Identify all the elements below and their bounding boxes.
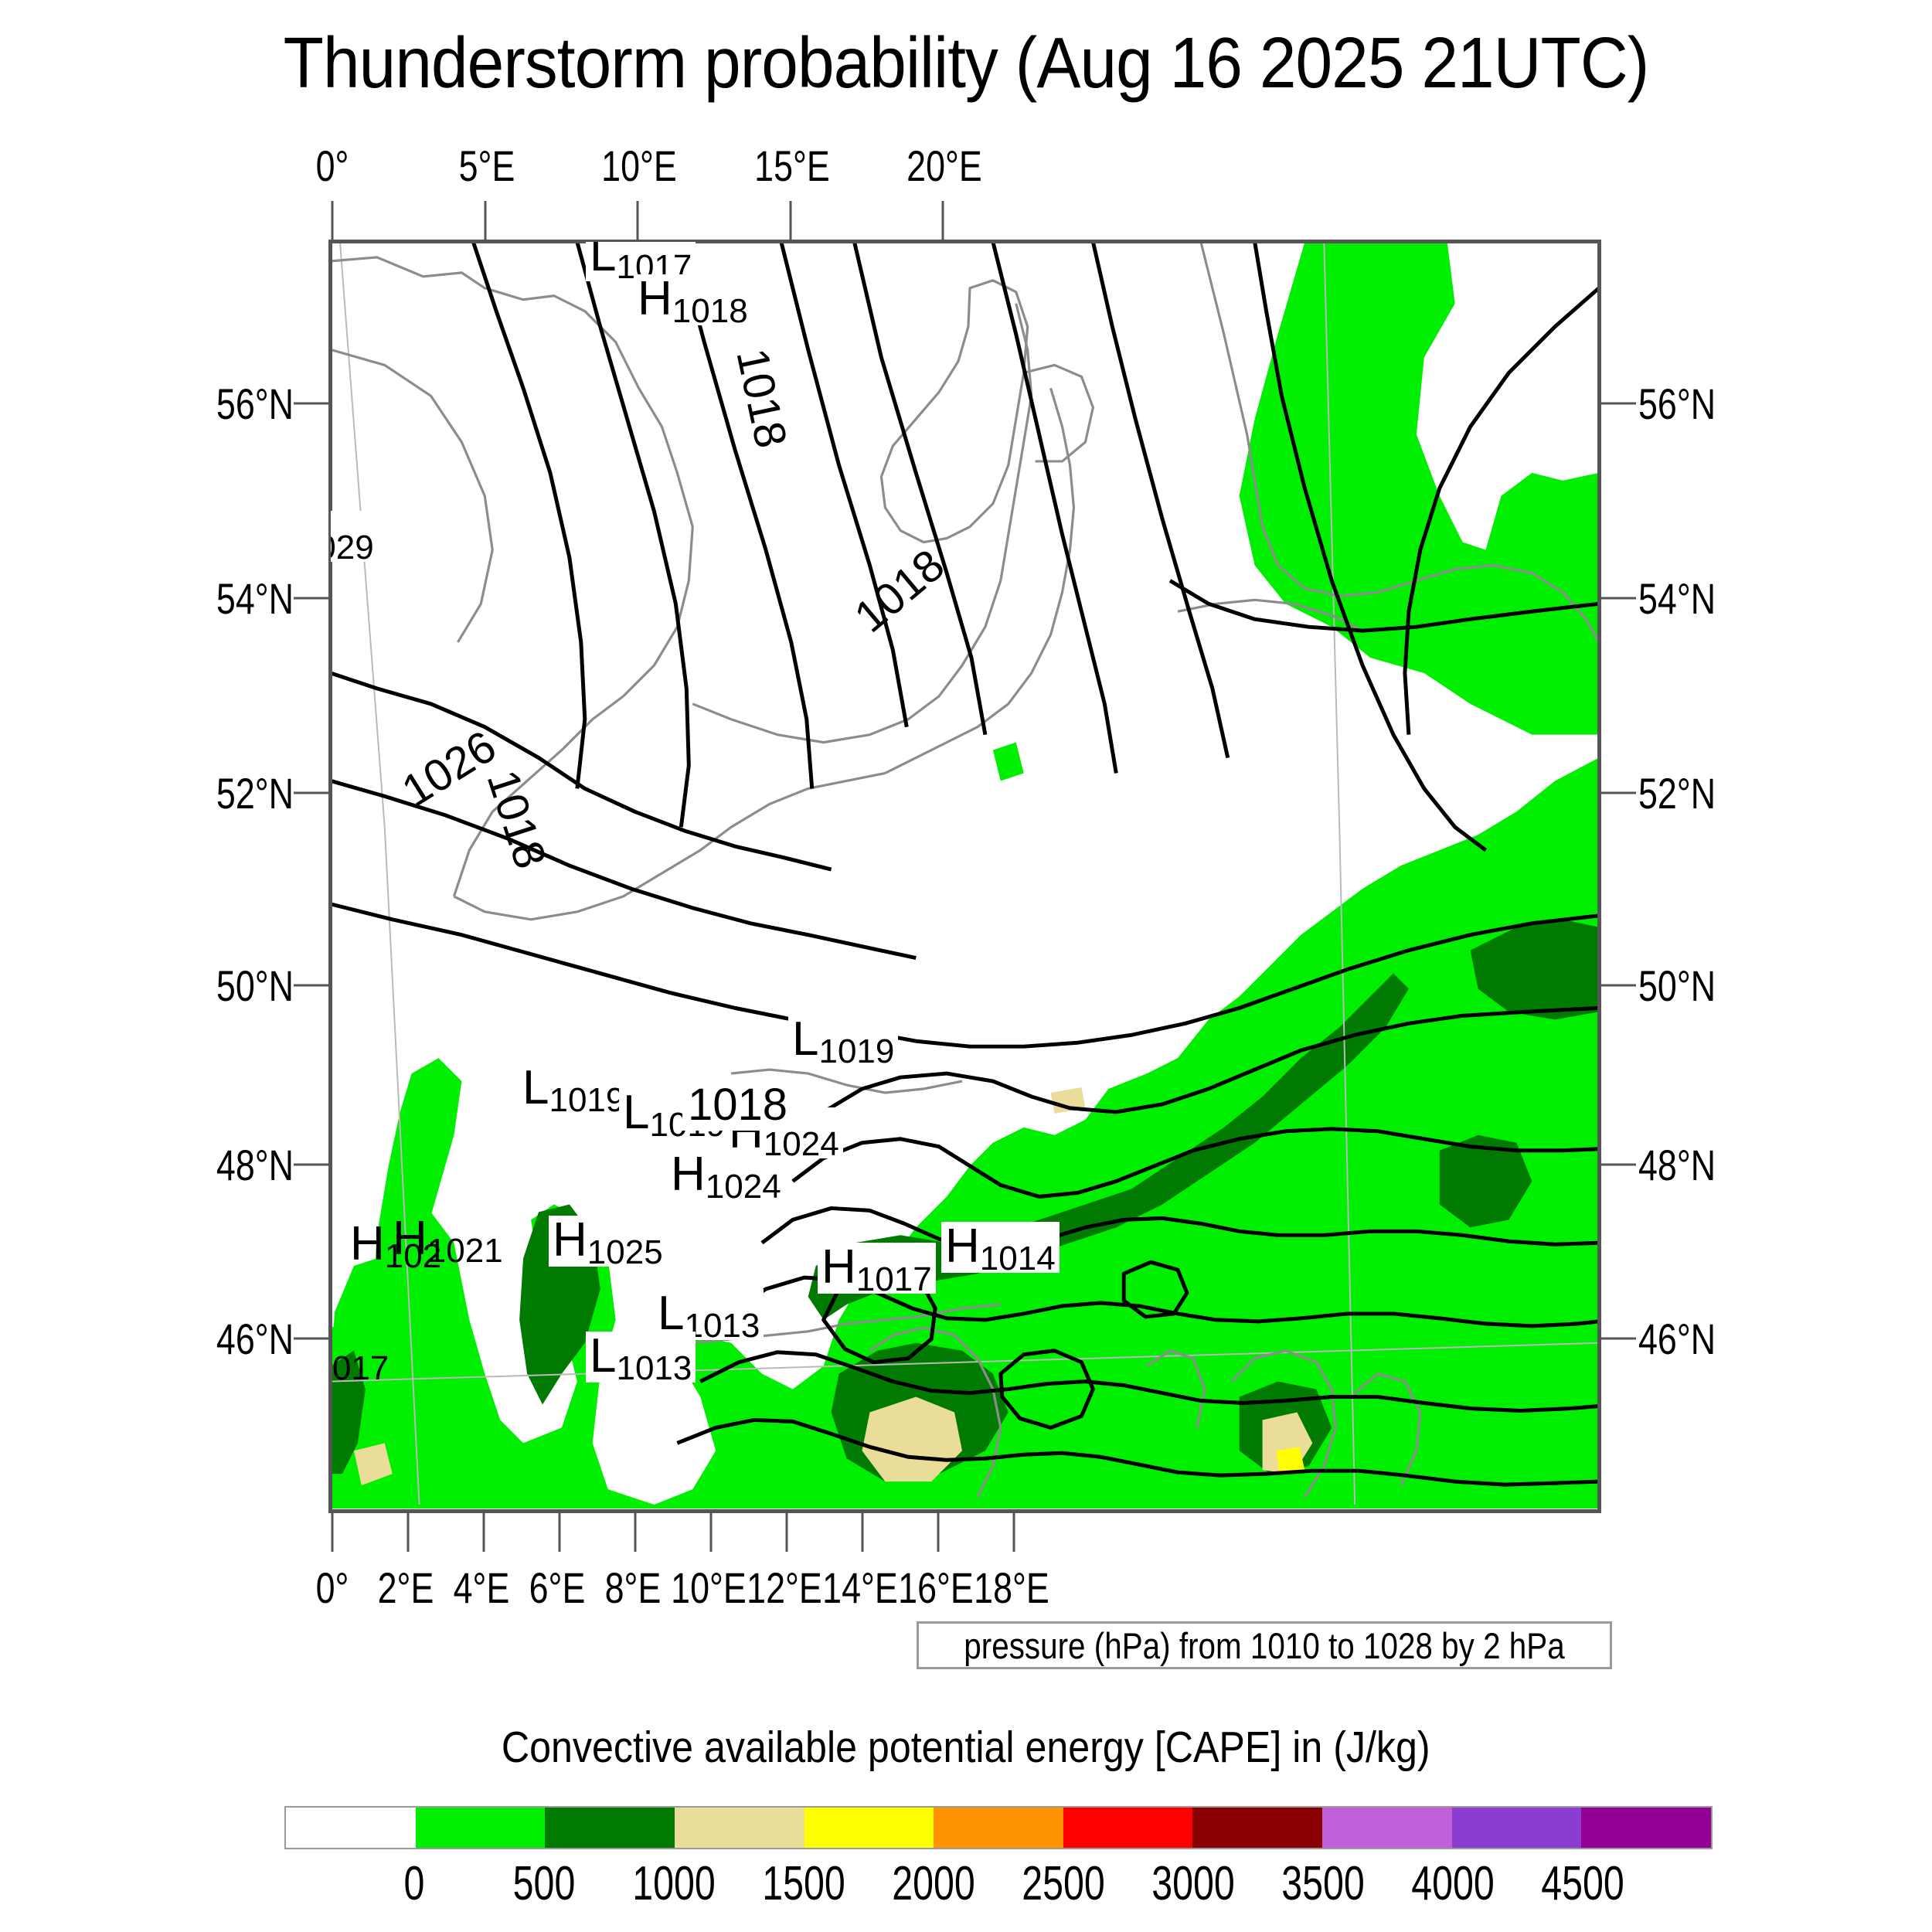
axis-tick-right: 54°N [1638,573,1774,624]
pressure-center-label: H1021 [389,1214,507,1265]
axis-tick-right: 48°N [1638,1140,1774,1190]
axis-tick-left: 56°N [158,379,294,429]
colorbar-caption: Convective available potential energy [C… [0,1722,1932,1773]
colorbar-tick-label: 0 [404,1856,425,1911]
pressure-center-label: H1014 [941,1222,1060,1273]
map-canvas [331,242,1599,1511]
axis-tick-top: 0° [270,141,394,191]
colorbar-tick-label: 4500 [1541,1856,1624,1911]
colorbar-tick-label: 3500 [1281,1856,1365,1911]
colorbar-ticks: 050010001500200025003000350040004500 [284,1856,1713,1918]
colorbar-segment-2[interactable] [545,1808,675,1848]
colorbar-segment-6[interactable] [1063,1808,1193,1848]
axis-tick-top: 10°E [577,141,701,191]
pressure-center-label: H1029 [328,511,378,562]
colorbar-segment-8[interactable] [1322,1808,1452,1848]
colorbar-segment-9[interactable] [1452,1808,1582,1848]
colorbar-tick-label: 500 [513,1856,576,1911]
colorbar-tick-label: 2000 [892,1856,975,1911]
axis-tick-left: 46°N [158,1314,294,1364]
axis-tick-left: 50°N [158,961,294,1011]
colorbar-segment-7[interactable] [1192,1808,1322,1848]
colorbar-tick-label: 4000 [1411,1856,1495,1911]
colorbar-segment-0[interactable] [286,1808,416,1848]
pressure-center-label: H1017 [818,1243,936,1294]
colorbar-segment-1[interactable] [416,1808,546,1848]
pressure-center-label: H1025 [549,1216,667,1267]
contour-label: 1018 [682,1080,793,1131]
map-panel[interactable]: L1017 H1018 H1029 L1019 L1019 L1019 H102… [328,240,1601,1513]
pressure-caption-box: pressure (hPa) from 1010 to 1028 by 2 hP… [917,1621,1612,1669]
axis-tick-left: 54°N [158,573,294,624]
axis-tick-right: 46°N [1638,1314,1774,1364]
colorbar-tick-label: 3000 [1151,1856,1235,1911]
colorbar-segment-5[interactable] [934,1808,1063,1848]
axis-tick-bottom: 18°E [965,1563,1058,1613]
colorbar-segment-10[interactable] [1581,1808,1711,1848]
colorbar-tick-label: 1000 [632,1856,716,1911]
axis-tick-left: 52°N [158,768,294,818]
axis-tick-top: 5°E [425,141,549,191]
pressure-caption-text: pressure (hPa) from 1010 to 1028 by 2 hP… [964,1624,1564,1667]
colorbar-caption-text: Convective available potential energy [C… [502,1722,1430,1773]
colorbar-segment-3[interactable] [675,1808,804,1848]
colorbar[interactable] [284,1806,1713,1849]
colorbar-segment-4[interactable] [804,1808,934,1848]
colorbar-tick-label: 2500 [1022,1856,1105,1911]
pressure-center-label: L1013 [586,1332,696,1383]
pressure-center-label: L1019 [788,1015,898,1066]
axis-tick-right: 52°N [1638,768,1774,818]
axis-tick-left: 48°N [158,1140,294,1190]
page-title: Thunderstorm probability (Aug 16 2025 21… [77,20,1855,105]
pressure-center-label: H1018 [634,274,752,325]
pressure-center-label: L1019 [519,1063,628,1114]
axis-tick-right: 50°N [1638,961,1774,1011]
axis-tick-top: 15°E [730,141,854,191]
colorbar-tick-label: 1500 [762,1856,845,1911]
axis-tick-top: 20°E [883,141,1006,191]
axis-tick-right: 56°N [1638,379,1774,429]
pressure-center-label: L1017 [328,1332,393,1383]
